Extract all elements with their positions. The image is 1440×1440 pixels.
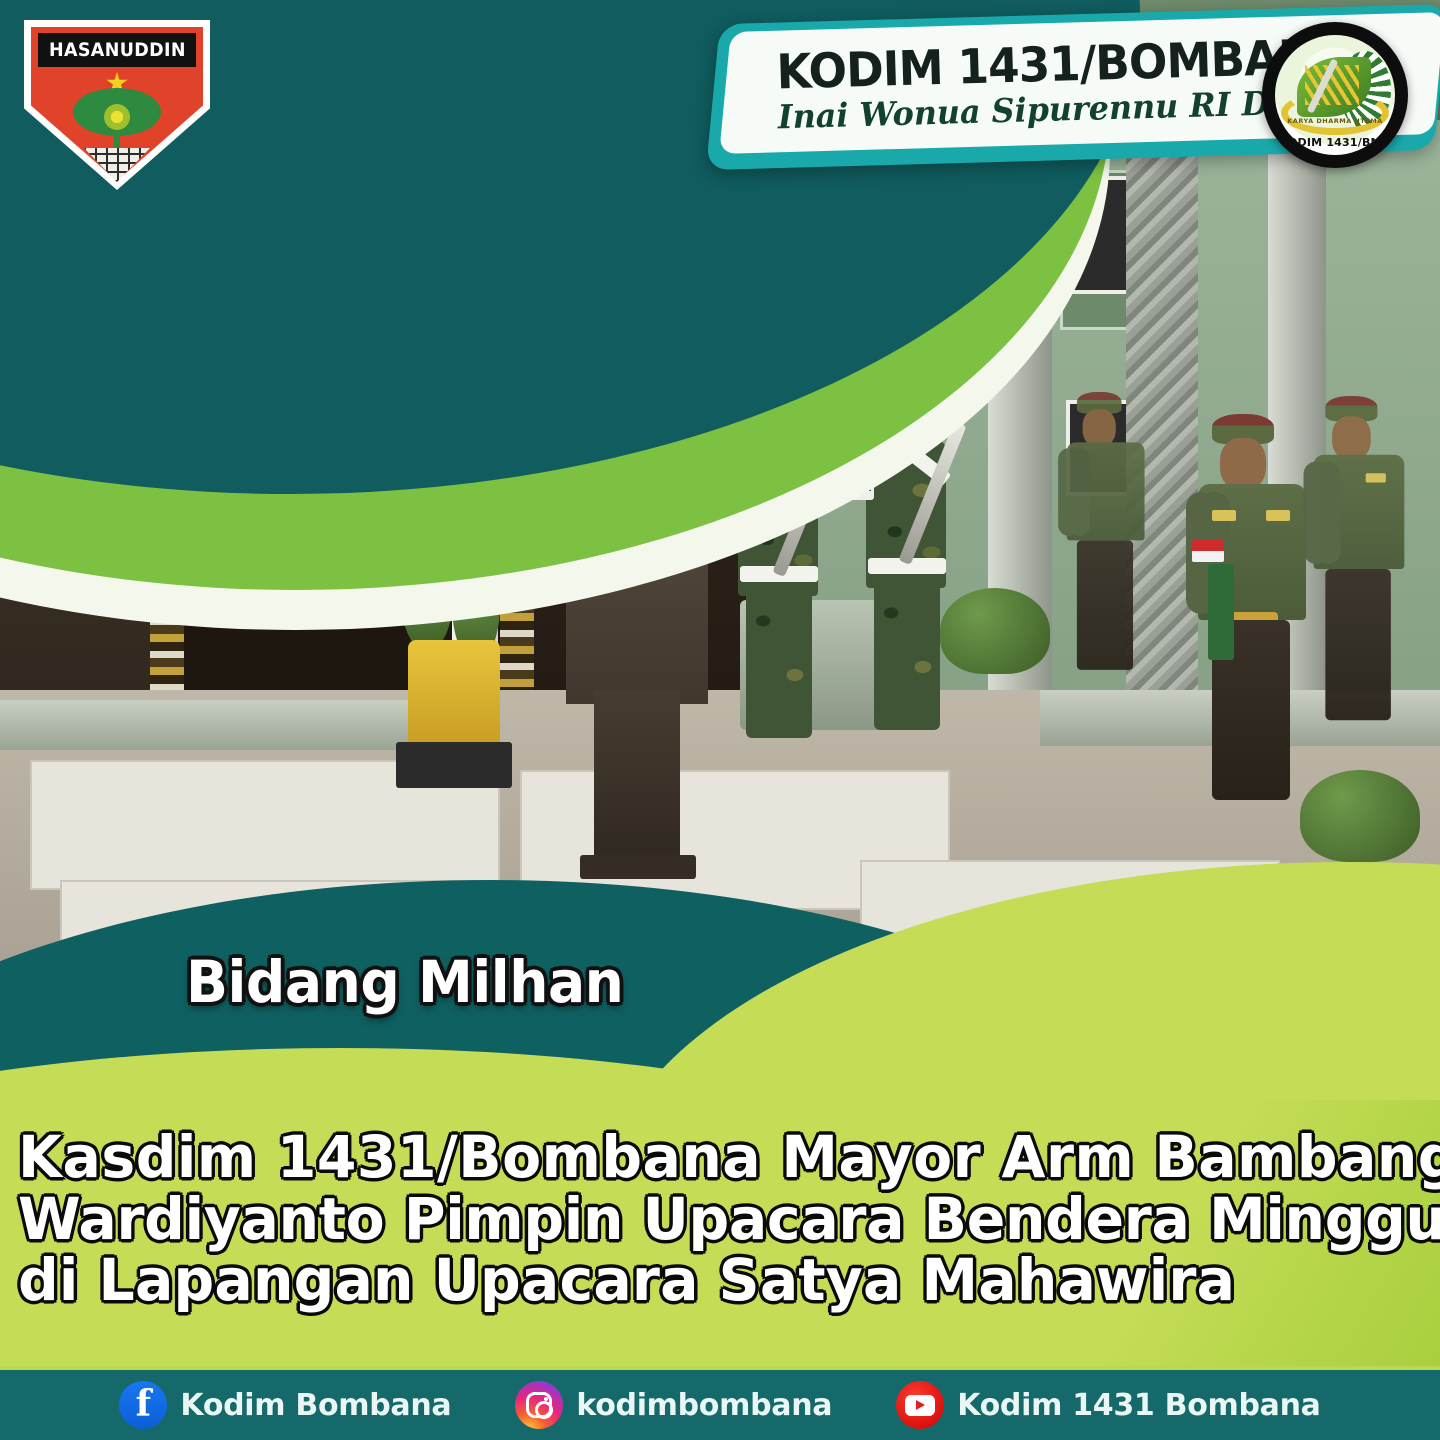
instagram-glyph xyxy=(526,1392,552,1418)
podium-stem xyxy=(594,690,680,870)
shrub-center xyxy=(940,588,1050,674)
officer-face-b2 xyxy=(1332,416,1371,460)
logo-unit-text: KODIM 1431/BMB xyxy=(1275,136,1395,149)
social-youtube[interactable]: Kodim 1431 Bombana xyxy=(896,1381,1320,1429)
officer-legs-b1 xyxy=(1077,540,1133,670)
facebook-glyph: f xyxy=(136,1386,152,1422)
caption-line-2: Wardiyanto Pimpin Upacara Bendera Minggu… xyxy=(18,1190,1394,1250)
shield-label: HASANUDDIN xyxy=(49,39,186,61)
officer-legs-b2 xyxy=(1325,569,1391,720)
yellow-planter xyxy=(408,640,500,752)
podium-base xyxy=(580,855,696,879)
youtube-handle: Kodim 1431 Bombana xyxy=(957,1388,1320,1423)
officer-arm-right-b1 xyxy=(1068,448,1090,536)
planter-base xyxy=(396,742,512,788)
pm-legs-1 xyxy=(746,588,812,738)
social-facebook[interactable]: f Kodim Bombana xyxy=(119,1381,451,1429)
officer-rank-badge xyxy=(1266,510,1290,521)
logo-motto-text: KARYA DHARMA UTAMA xyxy=(1275,117,1395,125)
officer-face xyxy=(1220,438,1266,490)
social-instagram[interactable]: kodimbombana xyxy=(515,1381,832,1429)
pillar-stone xyxy=(1126,120,1198,720)
curb-left xyxy=(0,700,420,750)
shrub-right xyxy=(1300,770,1420,862)
kodim-logo-inner: KARYA DHARMA UTAMA KODIM 1431/BMB xyxy=(1275,35,1395,155)
logo-wreath-ring xyxy=(1281,91,1389,135)
hasanuddin-shield-emblem: HASANUDDIN xyxy=(24,20,210,190)
instagram-icon[interactable] xyxy=(515,1381,563,1429)
kodim-logo-badge: KARYA DHARMA UTAMA KODIM 1431/BMB xyxy=(1262,22,1408,168)
officer-green-folder xyxy=(1208,564,1234,660)
officer-name-tag xyxy=(1212,510,1236,521)
facebook-icon[interactable]: f xyxy=(119,1381,167,1429)
youtube-icon[interactable] xyxy=(896,1381,944,1429)
caption-line-3: di Lapangan Upacara Satya Mahawira xyxy=(18,1251,1394,1311)
facebook-handle: Kodim Bombana xyxy=(180,1388,451,1423)
instagram-handle: kodimbombana xyxy=(576,1388,832,1423)
section-label: Bidang Milhan xyxy=(186,948,623,1016)
pm-legs-2 xyxy=(874,580,940,730)
poster-canvas: PM PM PM xyxy=(0,0,1440,1440)
shield-name-bar: HASANUDDIN xyxy=(38,33,196,67)
officer-rank-badge-b2 xyxy=(1366,473,1386,482)
officer-flag-patch-2 xyxy=(1204,540,1224,562)
social-footer: f Kodim Bombana kodimbombana Kodim 1431 … xyxy=(0,1370,1440,1440)
youtube-glyph xyxy=(905,1395,935,1416)
flower-icon xyxy=(104,104,130,130)
caption-line-1: Kasdim 1431/Bombana Mayor Arm Bambang xyxy=(18,1128,1394,1188)
caption-block: Kasdim 1431/Bombana Mayor Arm Bambang Wa… xyxy=(18,1128,1422,1313)
officer-face-b1 xyxy=(1083,409,1116,446)
officer-arm-right-b2 xyxy=(1315,462,1340,564)
